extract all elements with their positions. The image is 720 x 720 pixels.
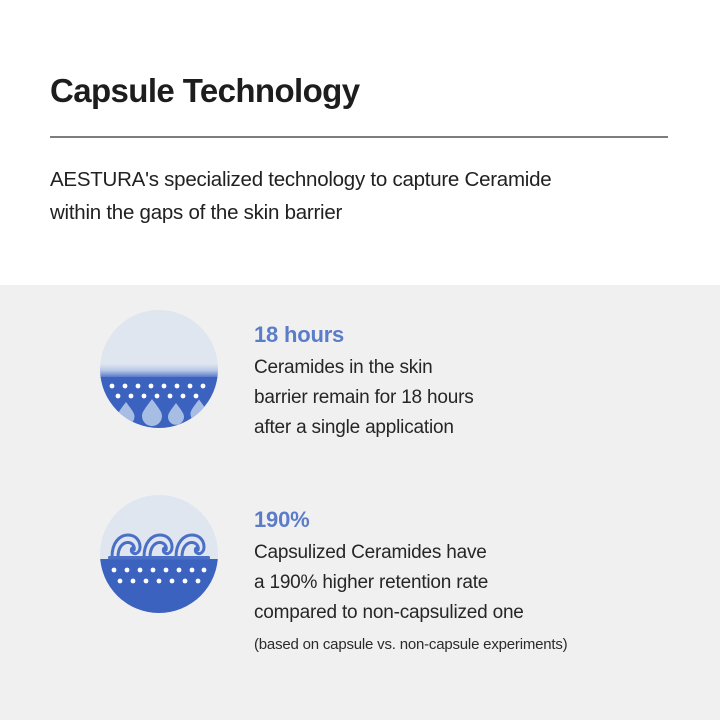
fact-heading: 190% bbox=[254, 507, 567, 533]
fact-icon-wrapper bbox=[100, 495, 218, 613]
fact-footnote: (based on capsule vs. non-capsule experi… bbox=[254, 635, 567, 655]
fact-description-line-2: a 190% higher retention rate bbox=[254, 568, 567, 598]
fact-block-190-percent: 190% Capsulized Ceramides have a 190% hi… bbox=[100, 495, 567, 656]
header-section: Capsule Technology AESTURA's specialized… bbox=[0, 0, 720, 285]
page-subtitle: AESTURA's specialized technology to capt… bbox=[50, 163, 690, 229]
title-divider bbox=[50, 136, 668, 138]
page-subtitle-line-1: AESTURA's specialized technology to capt… bbox=[50, 163, 690, 196]
capsule-technology-page: Capsule Technology AESTURA's specialized… bbox=[0, 0, 720, 720]
fact-description: Ceramides in the skin barrier remain for… bbox=[254, 353, 474, 443]
fact-description-line-1: Capsulized Ceramides have bbox=[254, 538, 567, 568]
fact-description-line-3: compared to non-capsulized one bbox=[254, 598, 567, 628]
facts-section: 18 hours Ceramides in the skin barrier r… bbox=[0, 285, 720, 720]
page-title: Capsule Technology bbox=[50, 72, 359, 110]
wave-retention-icon bbox=[100, 495, 218, 613]
fact-description-line-1: Ceramides in the skin bbox=[254, 353, 474, 383]
page-subtitle-line-2: within the gaps of the skin barrier bbox=[50, 196, 690, 229]
fact-block-18-hours: 18 hours Ceramides in the skin barrier r… bbox=[100, 310, 474, 443]
fact-description: Capsulized Ceramides have a 190% higher … bbox=[254, 538, 567, 628]
fact-description-line-3: after a single application bbox=[254, 413, 474, 443]
fact-description-line-2: barrier remain for 18 hours bbox=[254, 383, 474, 413]
fact-heading: 18 hours bbox=[254, 322, 474, 348]
fact-text-wrapper: 190% Capsulized Ceramides have a 190% hi… bbox=[254, 495, 567, 656]
fact-icon-wrapper bbox=[100, 310, 218, 428]
ceramide-droplets-in-barrier-icon bbox=[100, 310, 218, 428]
fact-text-wrapper: 18 hours Ceramides in the skin barrier r… bbox=[254, 310, 474, 443]
